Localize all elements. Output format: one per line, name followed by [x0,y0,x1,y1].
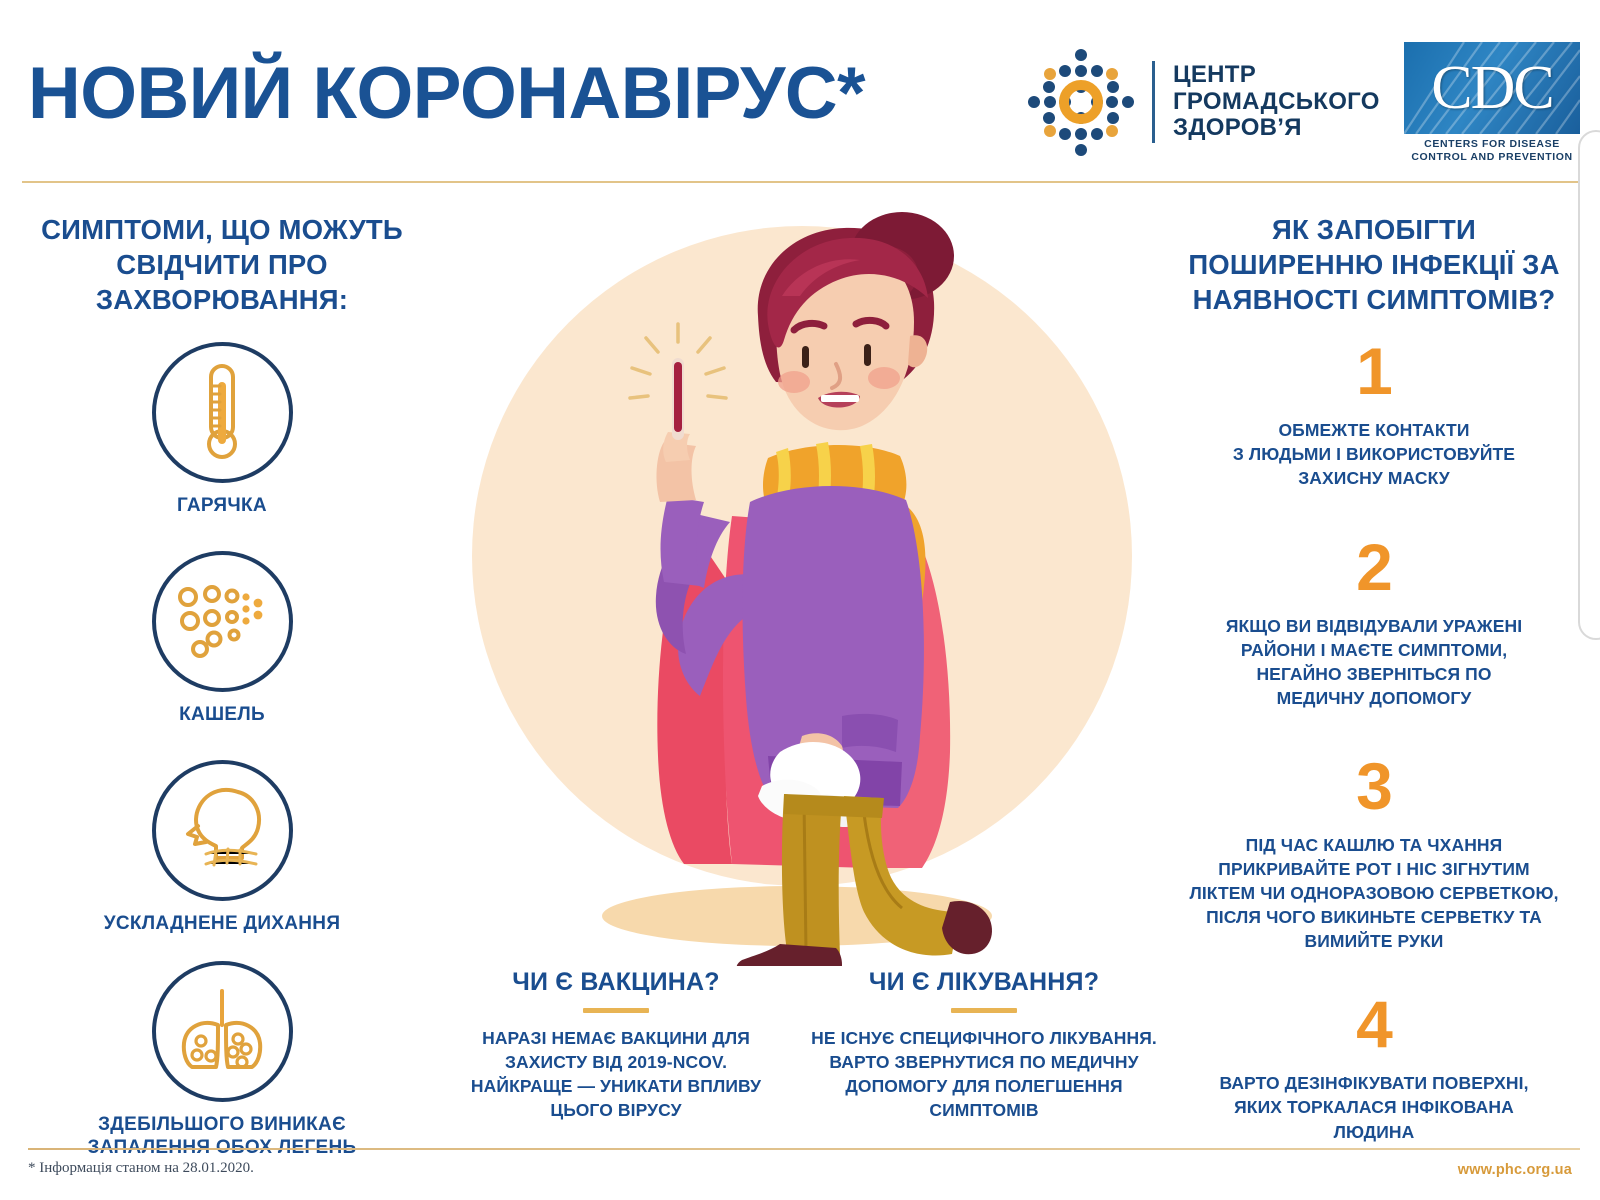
step-text-3: ПІД ЧАС КАШЛЮ ТА ЧХАННЯ ПРИКРИВАЙТЕ РОТ … [1164,833,1584,954]
symptoms-heading-line2: СВІДЧИТИ ПРО [12,247,432,282]
cdc-caption-line2: CONTROL AND PREVENTION [1404,151,1580,164]
qa-body-vaccine-line3: НАЙКРАЩЕ — УНИКАТИ ВПЛИВУ [440,1074,792,1098]
cdc-logo: CDC CENTERS FOR DISEASE CONTROL AND PREV… [1404,42,1580,164]
qa-body-vaccine-line4: ЦЬОГО ВІРУСУ [440,1098,792,1122]
prevention-heading: ЯК ЗАПОБІГТИ ПОШИРЕННЮ ІНФЕКЦІЇ ЗА НАЯВН… [1164,212,1584,318]
step-number-4: 4 [1164,991,1584,1057]
symptoms-heading-line3: ЗАХВОРЮВАННЯ: [12,282,432,317]
symptom-item-lungs: ЗДЕБІЛЬШОГО ВИНИКАЄ ЗАПАЛЕННЯ ОБОХ ЛЕГЕН… [12,961,432,1159]
spacer [12,517,432,551]
prevention-step-2: 2 ЯКЩО ВИ ВІДВІДУВАЛИ УРАЖЕНІ РАЙОНИ І М… [1164,534,1584,711]
phc-logo-text: ЦЕНТР ГРОМАДСЬКОГО ЗДОРОВ’Я [1173,62,1380,143]
qa-body-treatment-line3: ДОПОМОГУ ДЛЯ ПОЛЕГШЕННЯ [808,1074,1160,1098]
symptom-label-cough: КАШЕЛЬ [179,703,265,726]
sick-woman-with-thermometer-illustration [432,196,1162,966]
step-1-line1: ОБМЕЖТЕ КОНТАКТИ [1164,418,1584,442]
step-2-line4: МЕДИЧНУ ДОПОМОГУ [1164,686,1584,710]
qa-block-treatment: ЧИ Є ЛІКУВАННЯ? НЕ ІСНУЄ СПЕЦИФІЧНОГО ЛІ… [808,968,1160,1123]
step-3-line5: ВИМИЙТЕ РУКИ [1164,929,1584,953]
symptom-item-breathing: УСКЛАДНЕНЕ ДИХАННЯ [12,760,432,935]
spacer [1164,490,1584,534]
prevention-step-1: 1 ОБМЕЖТЕ КОНТАКТИ З ЛЮДЬМИ І ВИКОРИСТОВ… [1164,338,1584,490]
step-2-line1: ЯКЩО ВИ ВІДВІДУВАЛИ УРАЖЕНІ [1164,614,1584,638]
step-3-line1: ПІД ЧАС КАШЛЮ ТА ЧХАННЯ [1164,833,1584,857]
infographic-page: НОВИЙ КОРОНАВІРУС* [0,0,1600,1200]
qa-body-vaccine-line1: НАРАЗІ НЕМАЄ ВАКЦИНИ ДЛЯ [440,1026,792,1050]
step-text-2: ЯКЩО ВИ ВІДВІДУВАЛИ УРАЖЕНІ РАЙОНИ І МАЄ… [1164,614,1584,711]
phc-text-line1: ЦЕНТР [1173,62,1380,89]
qa-body-treatment-line2: ВАРТО ЗВЕРНУТИСЯ ПО МЕДИЧНУ [808,1050,1160,1074]
spacer [12,726,432,760]
spacer [1164,711,1584,753]
qa-body-vaccine: НАРАЗІ НЕМАЄ ВАКЦИНИ ДЛЯ ЗАХИСТУ ВІД 201… [440,1026,792,1123]
step-3-line4: ПІСЛЯ ЧОГО ВИКИНЬТЕ СЕРВЕТКУ ТА [1164,905,1584,929]
logo-divider [1152,61,1155,143]
symptom-item-fever: ГАРЯЧКА [12,342,432,517]
phc-logo-mark [1022,43,1140,161]
footnote: * Інформація станом на 28.01.2020. [28,1160,254,1177]
head-breathing-icon [176,782,268,879]
symptom-label-fever: ГАРЯЧКА [177,494,267,517]
symptoms-heading-line1: СИМПТОМИ, ЩО МОЖУТЬ [12,212,432,247]
symptom-label-lungs-line1: ЗДЕБІЛЬШОГО ВИНИКАЄ [88,1113,357,1136]
symptom-label-breathing: УСКЛАДНЕНЕ ДИХАННЯ [104,912,341,935]
qa-title-treatment: ЧИ Є ЛІКУВАННЯ? [808,968,1160,997]
step-text-1: ОБМЕЖТЕ КОНТАКТИ З ЛЮДЬМИ І ВИКОРИСТОВУЙ… [1164,418,1584,490]
step-number-2: 2 [1164,534,1584,600]
footer-divider [28,1148,1580,1150]
symptom-label-lungs: ЗДЕБІЛЬШОГО ВИНИКАЄ ЗАПАЛЕННЯ ОБОХ ЛЕГЕН… [88,1113,357,1159]
page-title: НОВИЙ КОРОНАВІРУС* [28,52,865,135]
symptom-icon-circle [152,551,293,692]
cough-droplets-icon [174,579,270,664]
thermometer-icon [187,360,257,465]
prevention-steps: 1 ОБМЕЖТЕ КОНТАКТИ З ЛЮДЬМИ І ВИКОРИСТОВ… [1164,338,1584,1144]
symptom-icon-circle [152,760,293,901]
qa-divider [583,1008,649,1013]
website-url[interactable]: www.phc.org.ua [1458,1162,1572,1178]
step-2-line2: РАЙОНИ І МАЄТЕ СИМПТОМИ, [1164,638,1584,662]
cdc-logo-box: CDC [1404,42,1580,134]
prevention-heading-line1: ЯК ЗАПОБІГТИ [1164,212,1584,247]
qa-body-vaccine-line2: ЗАХИСТУ ВІД 2019-NCOV. [440,1050,792,1074]
symptoms-list: ГАРЯЧКА [12,342,432,1160]
qa-body-treatment-line1: НЕ ІСНУЄ СПЕЦИФІЧНОГО ЛІКУВАННЯ. [808,1026,1160,1050]
step-1-line3: ЗАХИСНУ МАСКУ [1164,466,1584,490]
phc-text-line3: ЗДОРОВ’Я [1173,115,1380,142]
edge-panel-artifact [1578,130,1600,640]
header-divider [22,181,1578,183]
qa-title-vaccine: ЧИ Є ВАКЦИНА? [440,968,792,997]
qa-body-treatment-line4: СИМПТОМІВ [808,1098,1160,1122]
step-4-line1: ВАРТО ДЕЗІНФІКУВАТИ ПОВЕРХНІ, [1164,1071,1584,1095]
symptom-icon-circle [152,961,293,1102]
qa-divider [951,1008,1017,1013]
prevention-heading-line2: ПОШИРЕННЮ ІНФЕКЦІЇ ЗА [1164,247,1584,282]
symptoms-heading: СИМПТОМИ, ЩО МОЖУТЬ СВІДЧИТИ ПРО ЗАХВОРЮ… [12,212,432,318]
prevention-column: ЯК ЗАПОБІГТИ ПОШИРЕННЮ ІНФЕКЦІЇ ЗА НАЯВН… [1164,212,1584,1144]
cdc-letters: CDC [1404,42,1580,134]
step-3-line3: ЛІКТЕМ ЧИ ОДНОРАЗОВОЮ СЕРВЕТКОЮ, [1164,881,1584,905]
step-3-line2: ПРИКРИВАЙТЕ РОТ І НІС ЗІГНУТИМ [1164,857,1584,881]
step-4-line3: ЛЮДИНА [1164,1120,1584,1144]
qa-body-treatment: НЕ ІСНУЄ СПЕЦИФІЧНОГО ЛІКУВАННЯ. ВАРТО З… [808,1026,1160,1123]
phc-logo: ЦЕНТР ГРОМАДСЬКОГО ЗДОРОВ’Я [1022,42,1362,162]
prevention-heading-line3: НАЯВНОСТІ СИМПТОМІВ? [1164,282,1584,317]
prevention-step-3: 3 ПІД ЧАС КАШЛЮ ТА ЧХАННЯ ПРИКРИВАЙТЕ РО… [1164,753,1584,954]
cdc-caption-line1: CENTERS FOR DISEASE [1404,138,1580,151]
spacer [1164,953,1584,991]
step-4-line2: ЯКИХ ТОРКАЛАСЯ ІНФІКОВАНА [1164,1095,1584,1119]
step-text-4: ВАРТО ДЕЗІНФІКУВАТИ ПОВЕРХНІ, ЯКИХ ТОРКА… [1164,1071,1584,1143]
header: НОВИЙ КОРОНАВІРУС* [0,0,1600,182]
qa-row: ЧИ Є ВАКЦИНА? НАРАЗІ НЕМАЄ ВАКЦИНИ ДЛЯ З… [440,968,1160,1123]
step-2-line3: НЕГАЙНО ЗВЕРНІТЬСЯ ПО [1164,662,1584,686]
symptoms-column: СИМПТОМИ, ЩО МОЖУТЬ СВІДЧИТИ ПРО ЗАХВОРЮ… [12,212,432,1159]
step-number-1: 1 [1164,338,1584,404]
symptom-icon-circle [152,342,293,483]
prevention-step-4: 4 ВАРТО ДЕЗІНФІКУВАТИ ПОВЕРХНІ, ЯКИХ ТОР… [1164,991,1584,1143]
qa-block-vaccine: ЧИ Є ВАКЦИНА? НАРАЗІ НЕМАЄ ВАКЦИНИ ДЛЯ З… [440,968,792,1123]
step-1-line2: З ЛЮДЬМИ І ВИКОРИСТОВУЙТЕ [1164,442,1584,466]
cdc-caption: CENTERS FOR DISEASE CONTROL AND PREVENTI… [1404,138,1580,164]
lungs-icon [172,985,272,1078]
step-number-3: 3 [1164,753,1584,819]
phc-text-line2: ГРОМАДСЬКОГО [1173,89,1380,116]
spacer [12,935,432,961]
symptom-item-cough: КАШЕЛЬ [12,551,432,726]
